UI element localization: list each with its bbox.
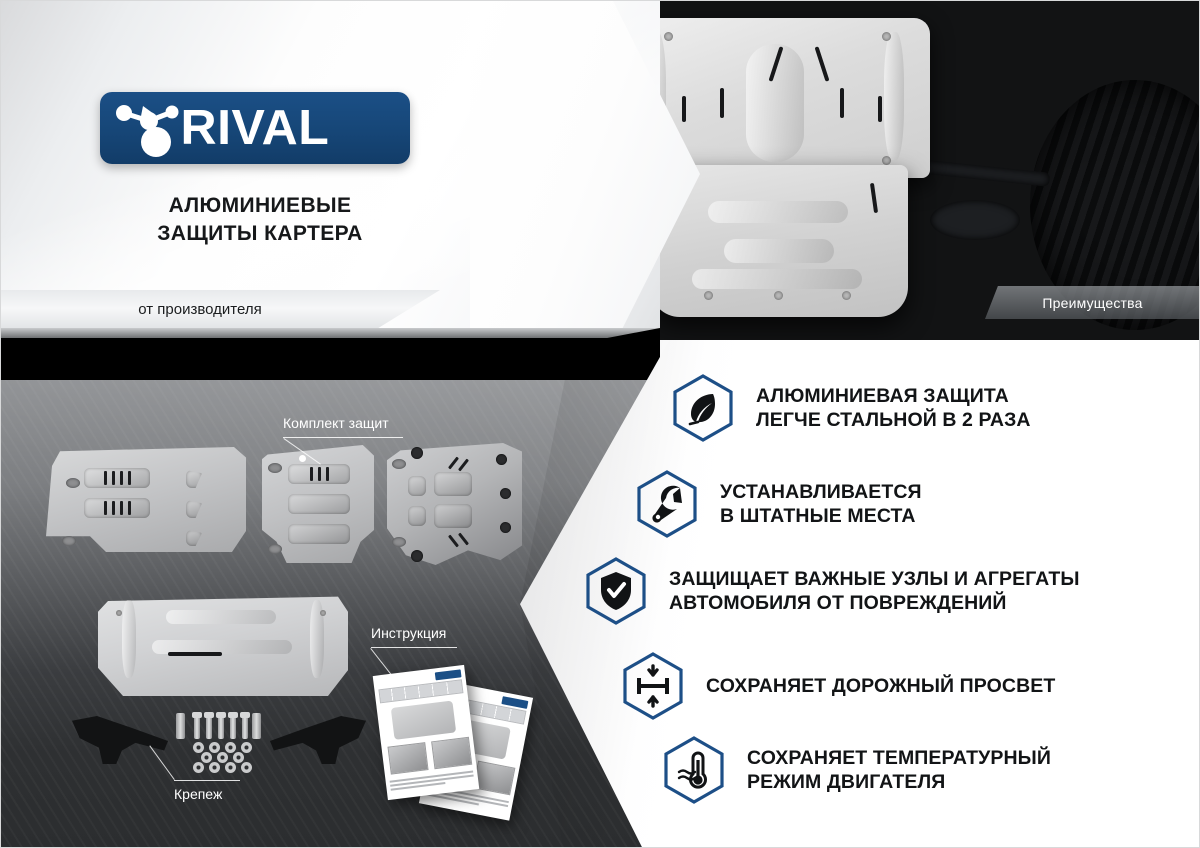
advantages-tag-label: Преимущества: [1042, 295, 1142, 311]
plate-a-pad-1: [84, 468, 150, 488]
feature-clearance-line1: СОХРАНЯЕТ ДОРОЖНЫЙ ПРОСВЕТ: [706, 674, 1055, 698]
washer-6: [217, 752, 228, 763]
feature-item-temperature: СОХРАНЯЕТ ТЕМПЕРАТУРНЫЙ РЕЖИМ ДВИГАТЕЛЯ: [663, 736, 1051, 804]
washer-11: [241, 762, 252, 773]
fastener-strip-left: [176, 713, 185, 739]
callout-hardware: Крепеж: [174, 786, 240, 802]
feature-text-clearance: СОХРАНЯЕТ ДОРОЖНЫЙ ПРОСВЕТ: [706, 674, 1055, 698]
feature-item-clearance: СОХРАНЯЕТ ДОРОЖНЫЙ ПРОСВЕТ: [622, 652, 1055, 720]
sheet-photo-2: [473, 761, 516, 796]
page-title-line1: АЛЮМИНИЕВЫЕ: [100, 192, 420, 220]
plate-c-pad-3: [434, 472, 472, 496]
bolt-2: [206, 715, 212, 739]
callout-manual-label: Инструкция: [371, 625, 446, 641]
feature-install-line1: УСТАНАВЛИВАЕТСЯ: [720, 480, 922, 504]
feature-item-protect: ЗАЩИЩАЕТ ВАЖНЫЕ УЗЛЫ И АГРЕГАТЫ АВТОМОБИ…: [585, 557, 1080, 625]
advantages-tag: Преимущества: [985, 286, 1200, 319]
sheet-diagram: [391, 701, 456, 740]
bolt-1: [194, 715, 200, 739]
plate-c-pad-1: [408, 476, 426, 496]
washer-5: [201, 752, 212, 763]
ground-clearance-icon: [622, 652, 684, 720]
plate-a-pad-2: [84, 498, 150, 518]
feature-item-install: УСТАНАВЛИВАЕТСЯ В ШТАТНЫЕ МЕСТА: [636, 470, 922, 538]
feature-temperature-line2: РЕЖИМ ДВИГАТЕЛЯ: [747, 770, 1051, 794]
washer-3: [225, 742, 236, 753]
wrench-icon: [636, 470, 698, 538]
bolt-5: [242, 715, 248, 739]
logo-wordmark: RIVAL: [181, 104, 330, 153]
bolt-3: [218, 715, 224, 739]
molecule-icon: [110, 97, 184, 159]
leaf-icon: [672, 374, 734, 442]
fastener-strip-right: [252, 713, 261, 739]
plate-c-pad-2: [408, 506, 426, 526]
plate-b-pad-2: [288, 494, 350, 514]
instruction-sheet-front: [373, 665, 480, 800]
sheet-photo-2: [431, 737, 472, 769]
page-title: АЛЮМИНИЕВЫЕ ЗАЩИТЫ КАРТЕРА: [100, 192, 420, 249]
feature-text-weight: АЛЮМИНИЕВАЯ ЗАЩИТА ЛЕГЧЕ СТАЛЬНОЙ В 2 РА…: [756, 384, 1031, 433]
washer-1: [193, 742, 204, 753]
rival-logo: RIVAL: [100, 92, 410, 164]
feature-text-protect: ЗАЩИЩАЕТ ВАЖНЫЕ УЗЛЫ И АГРЕГАТЫ АВТОМОБИ…: [669, 567, 1080, 616]
feature-protect-line2: АВТОМОБИЛЯ ОТ ПОВРЕЖДЕНИЙ: [669, 591, 1080, 615]
washer-4: [241, 742, 252, 753]
feature-item-weight: АЛЮМИНИЕВАЯ ЗАЩИТА ЛЕГЧЕ СТАЛЬНОЙ В 2 РА…: [672, 374, 1031, 442]
plate-b-pad-3: [288, 524, 350, 544]
plate-c-pad-4: [434, 504, 472, 528]
sheet-photo-1: [387, 742, 428, 774]
washer-7: [233, 752, 244, 763]
sheet-parts-table: [378, 679, 463, 703]
washer-8: [193, 762, 204, 773]
washer-2: [209, 742, 220, 753]
suspension-bush: [930, 200, 1020, 240]
callout-kit-label: Комплект защит: [283, 415, 389, 431]
washer-10: [225, 762, 236, 773]
feature-weight-line2: ЛЕГЧЕ СТАЛЬНОЙ В 2 РАЗА: [756, 408, 1031, 432]
bolt-4: [230, 715, 236, 739]
callout-kit: Комплект защит: [283, 415, 403, 431]
callout-hardware-label: Крепеж: [174, 786, 222, 802]
feature-temperature-line1: СОХРАНЯЕТ ТЕМПЕРАТУРНЫЙ: [747, 746, 1051, 770]
feature-weight-line1: АЛЮМИНИЕВАЯ ЗАЩИТА: [756, 384, 1031, 408]
feature-protect-line1: ЗАЩИЩАЕТ ВАЖНЫЕ УЗЛЫ И АГРЕГАТЫ: [669, 567, 1080, 591]
subtitle-text: от производителя: [138, 301, 301, 318]
feature-install-line2: В ШТАТНЫЕ МЕСТА: [720, 504, 922, 528]
feature-text-temperature: СОХРАНЯЕТ ТЕМПЕРАТУРНЫЙ РЕЖИМ ДВИГАТЕЛЯ: [747, 746, 1051, 795]
page-title-line2: ЗАЩИТЫ КАРТЕРА: [100, 220, 420, 248]
thermometer-icon: [663, 736, 725, 804]
promo-banner: RIVAL АЛЮМИНИЕВЫЕ ЗАЩИТЫ КАРТЕРА от прои…: [0, 0, 1200, 848]
callout-kit-dot: [299, 455, 306, 462]
feature-text-install: УСТАНАВЛИВАЕТСЯ В ШТАТНЫЕ МЕСТА: [720, 480, 922, 529]
subtitle-band: от производителя: [0, 290, 440, 328]
shield-check-icon: [585, 557, 647, 625]
hero-bottom-edge-highlight: [0, 328, 660, 338]
callout-manual: Инструкция: [371, 625, 457, 641]
washer-9: [209, 762, 220, 773]
